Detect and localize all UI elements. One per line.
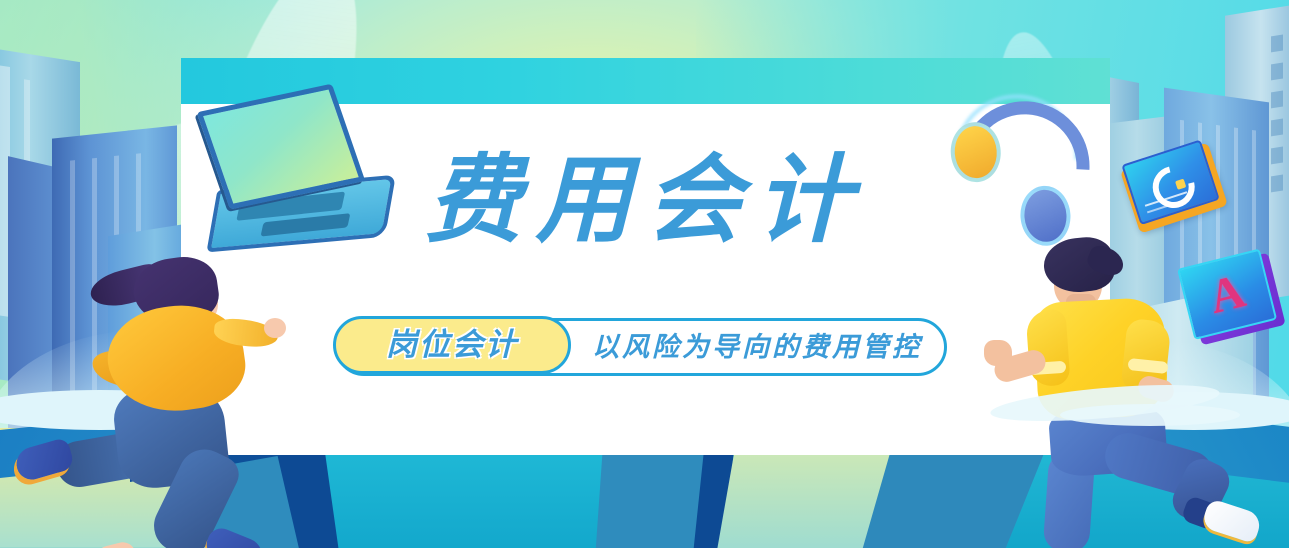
mist-decoration (1060, 404, 1240, 426)
subtitle-tag-label: 岗位会计 (386, 330, 518, 361)
subtitle-pill: 以风险为导向的费用管控 岗位会计 (335, 318, 947, 376)
page-title: 费用会计 (181, 152, 1110, 248)
subtitle-tag-badge: 岗位会计 (333, 316, 571, 374)
course-banner: A 费用会计 以风险为导向的费用管控 (0, 0, 1289, 548)
subtitle-description: 以风险为导向的费用管控 (585, 318, 929, 376)
running-woman-illustration (38, 258, 278, 548)
